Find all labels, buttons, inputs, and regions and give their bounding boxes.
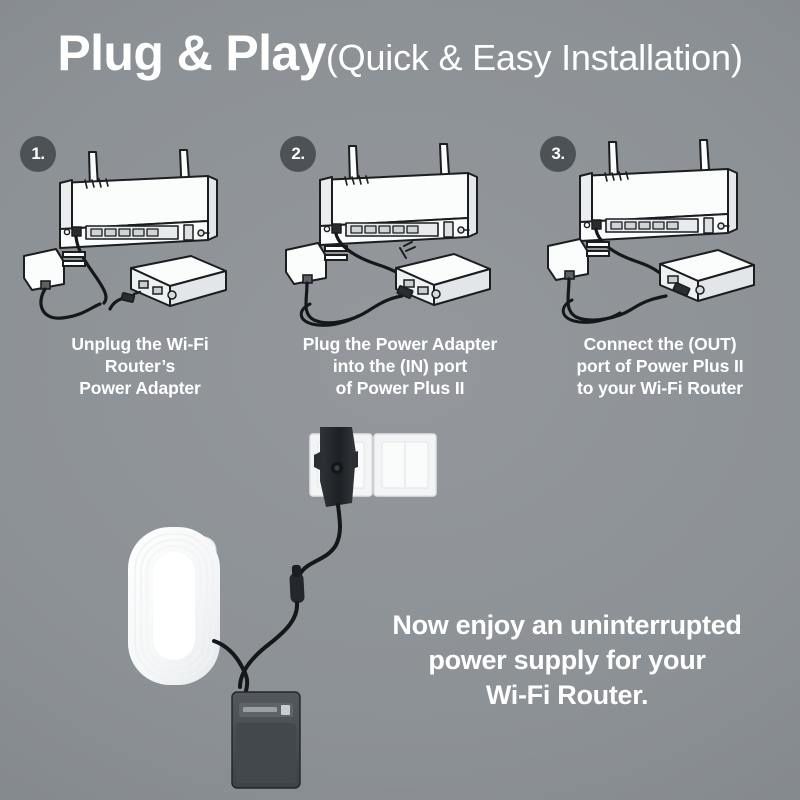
step-1-caption: Unplug the Wi-Fi Router’s Power Adapter (12, 333, 268, 400)
step-3-caption-line-1: Connect the (OUT) (532, 333, 788, 355)
white-wifi-router-top-view (128, 527, 220, 685)
power-plus-ii-unit (232, 692, 300, 788)
cable-lower (240, 603, 297, 687)
step-3-caption: Connect the (OUT) port of Power Plus II … (532, 333, 788, 400)
step-3: 3. (532, 128, 788, 418)
tagline-line-1: Now enjoy an uninterrupted (352, 608, 782, 643)
step-1-caption-line-3: Power Adapter (12, 377, 268, 399)
step-1-caption-line-1: Unplug the Wi-Fi (12, 333, 268, 355)
step-2-caption-line-3: of Power Plus II (272, 377, 528, 399)
title-main: Plug & Play (57, 25, 325, 81)
step-1-caption-line-2: Router’s (12, 355, 268, 377)
closing-tagline: Now enjoy an uninterrupted power supply … (352, 608, 782, 713)
tagline-line-3: Wi-Fi Router. (352, 678, 782, 713)
step-1: 1. (12, 128, 268, 418)
step-3-illustration (532, 128, 788, 338)
title-subtitle: (Quick & Easy Installation) (326, 37, 743, 78)
infographic-page: Plug & Play(Quick & Easy Installation) 1… (0, 0, 800, 800)
steps-row: 1. (0, 128, 800, 418)
step-2-caption-line-2: into the (IN) port (272, 355, 528, 377)
step-3-caption-line-2: port of Power Plus II (532, 355, 788, 377)
page-title: Plug & Play(Quick & Easy Installation) (0, 28, 800, 78)
step-2-caption: Plug the Power Adapter into the (IN) por… (272, 333, 528, 400)
step-2: 2. (272, 128, 528, 418)
step-2-illustration (272, 128, 528, 338)
step-1-illustration (12, 128, 268, 338)
step-3-caption-line-3: to your Wi-Fi Router (532, 377, 788, 399)
step-2-caption-line-1: Plug the Power Adapter (272, 333, 528, 355)
tagline-line-2: power supply for your (352, 643, 782, 678)
